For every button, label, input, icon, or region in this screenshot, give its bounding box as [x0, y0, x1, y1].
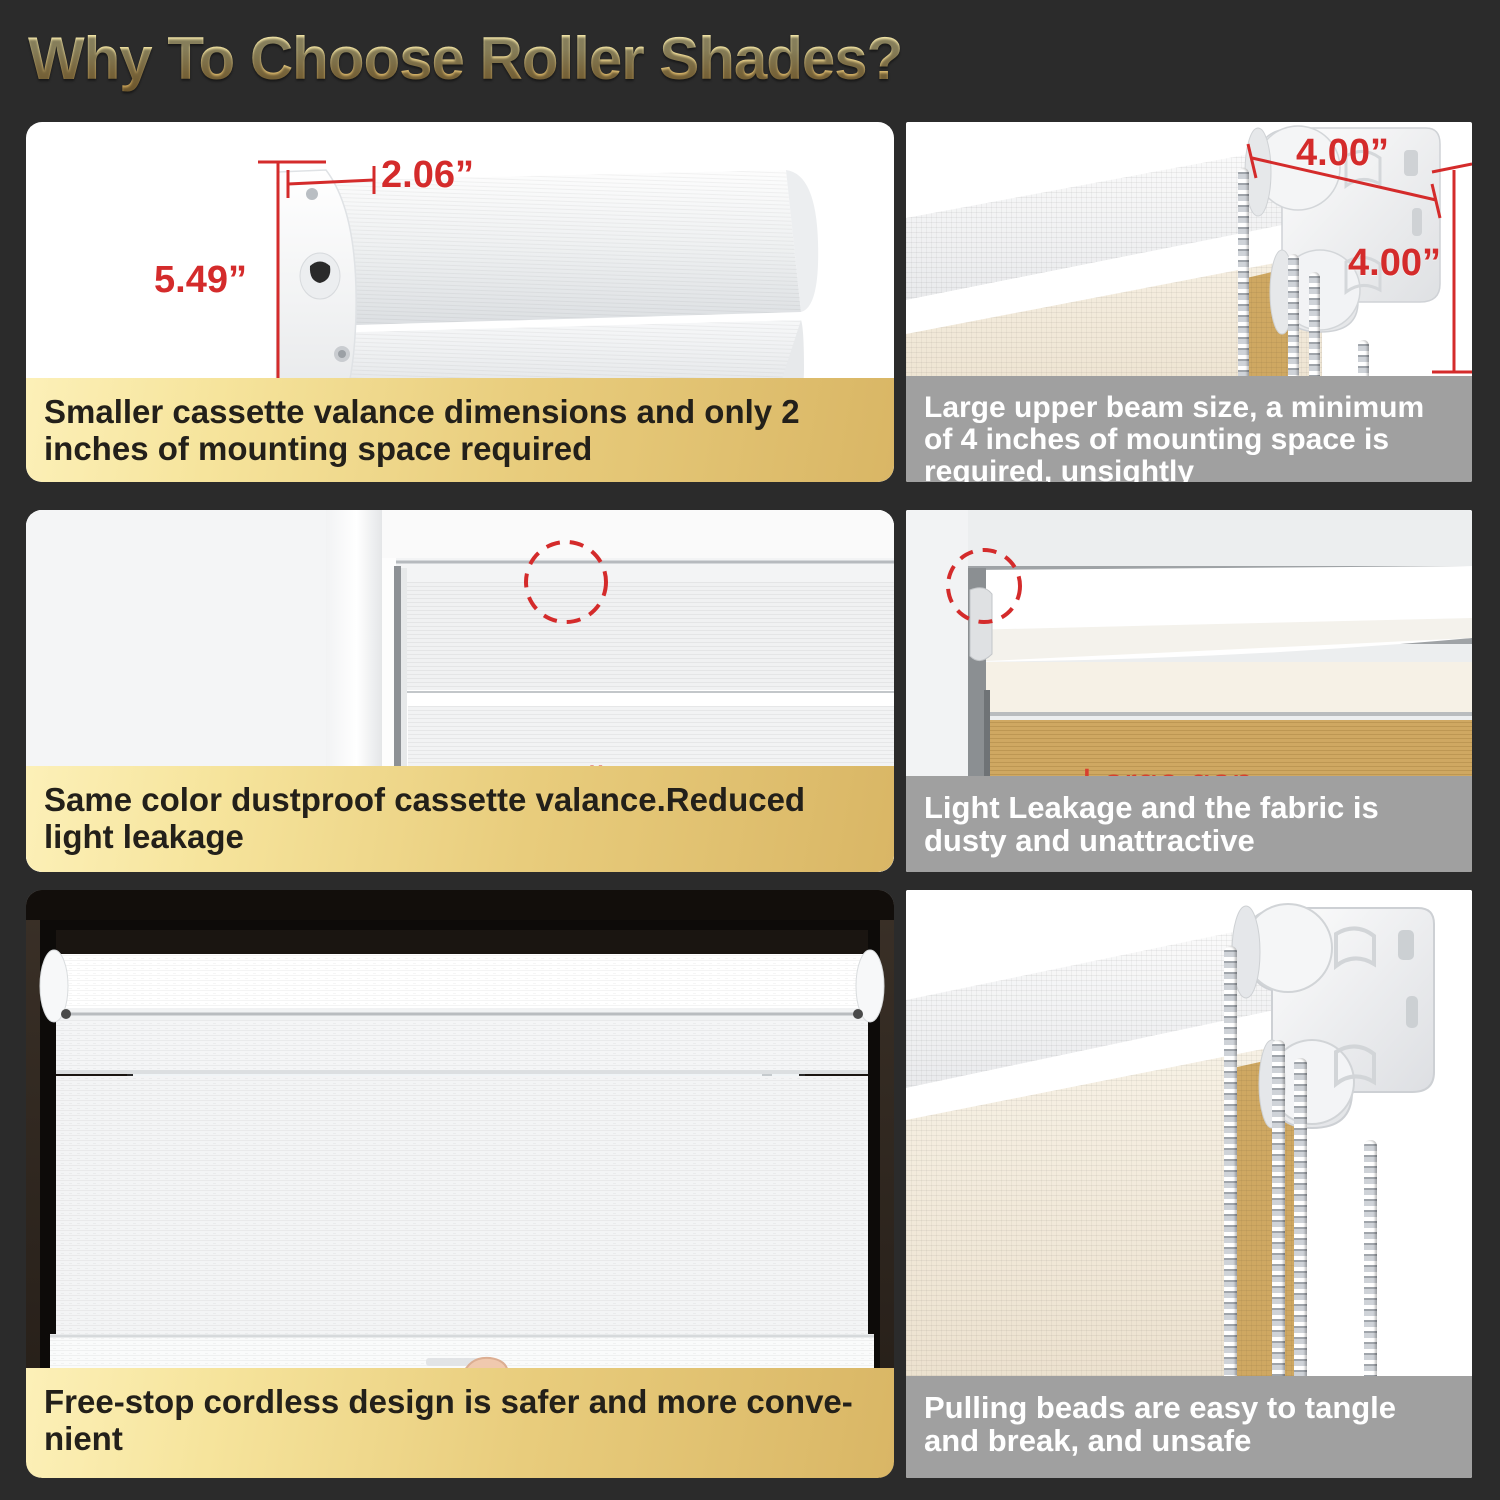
- panel-pulling-beads: Pulling beads are easy to tangle and bre…: [906, 890, 1472, 1478]
- panel-smaller-cassette-valance: 2.06” 5.49” Smaller cassette valance dim…: [26, 122, 894, 482]
- height-dimension-label: 4.00”: [1348, 242, 1441, 285]
- panel-large-upper-beam: 4.00” 4.00” Large upper beam size, a min…: [906, 122, 1472, 482]
- width-dimension-label: 2.06”: [381, 154, 474, 197]
- caption-smaller-cassette-valance: Smaller cassette valance dimensions and …: [26, 378, 894, 482]
- panel-dustproof-cassette-valance: smaller gap Same color dustproof cassett…: [26, 510, 894, 872]
- comparison-grid: 2.06” 5.49” Smaller cassette valance dim…: [0, 0, 1500, 1500]
- caption-free-stop-cordless: Free-stop cordless design is safer and m…: [26, 1368, 894, 1478]
- caption-pulling-beads: Pulling beads are easy to tangle and bre…: [906, 1376, 1472, 1478]
- height-dimension-label: 5.49”: [154, 259, 247, 302]
- panel-light-leakage: Large gap Light Leakage and the fabric i…: [906, 510, 1472, 872]
- width-dimension-label: 4.00”: [1296, 132, 1389, 175]
- panel-free-stop-cordless: Free-stop cordless design is safer and m…: [26, 890, 894, 1478]
- caption-large-upper-beam: Large upper beam size, a minimum of 4 in…: [906, 376, 1472, 482]
- caption-light-leakage: Light Leakage and the fabric is dusty an…: [906, 776, 1472, 872]
- caption-dustproof-cassette-valance: Same color dustproof cassette valance.Re…: [26, 766, 894, 872]
